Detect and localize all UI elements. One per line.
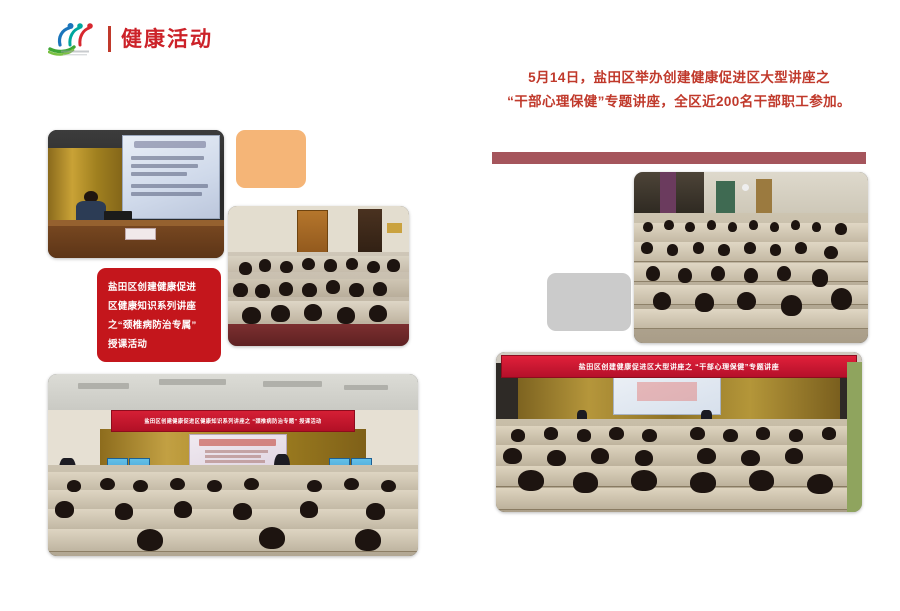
- audience-head: [381, 480, 396, 493]
- right-column-heading: 5月14日，盐田区举办创建健康促进区大型讲座之 “干部心理保健”专题讲座，全区近…: [488, 66, 870, 114]
- wooden-door: [756, 179, 772, 215]
- audience-head: [646, 266, 660, 281]
- audience-head: [280, 261, 293, 274]
- audience-head: [777, 266, 791, 281]
- photo-scene: 盐田区创建健康促进区健康知识系列讲座之 “颈椎病防治专题” 授课活动: [48, 374, 418, 556]
- audience-head: [100, 478, 115, 491]
- ceiling: [48, 374, 418, 414]
- vertical-divider-icon: [108, 26, 111, 52]
- ceiling-light: [78, 383, 130, 388]
- audience-head: [244, 478, 259, 491]
- audience-head: [653, 292, 672, 311]
- audience-head: [744, 242, 756, 254]
- page-header: 健康活动: [48, 18, 213, 60]
- page-root: 健康活动 5月14日，盐田区举办创建健康促进区大型讲座之 “干部心理保健”专题讲…: [0, 0, 900, 611]
- photo-dense-audience-right: [634, 172, 868, 343]
- stage-banner-text: 盐田区创建健康促进区大型讲座之 “干部心理保健”专题讲座: [579, 362, 780, 372]
- photo-scene: [634, 172, 868, 343]
- audience-head: [115, 503, 134, 519]
- audience-head: [279, 282, 293, 296]
- ceiling-light: [344, 385, 388, 390]
- audience-head: [685, 222, 694, 232]
- photo-speaker-presentation: [48, 130, 224, 258]
- audience-head: [233, 503, 252, 519]
- audience-head: [373, 282, 387, 296]
- audience-head: [795, 242, 807, 254]
- audience-head: [302, 283, 316, 297]
- audience-head: [641, 242, 653, 254]
- audience-head: [678, 268, 692, 283]
- stage-banner-text: 盐田区创建健康促进区健康知识系列讲座之 “颈椎病防治专题” 授课活动: [144, 418, 321, 425]
- audience-head: [387, 259, 400, 272]
- audience-head: [831, 288, 852, 310]
- audience-head: [642, 429, 657, 442]
- exit-door: [716, 181, 735, 215]
- audience-head: [137, 529, 163, 551]
- audience-head: [207, 480, 222, 493]
- health-literacy-logo-icon: [48, 19, 102, 59]
- ceiling-light: [263, 381, 322, 386]
- audience-head: [55, 501, 74, 517]
- audience-head: [643, 222, 652, 232]
- seat-row: [634, 309, 868, 329]
- audience-head: [749, 220, 758, 230]
- audience-head: [824, 246, 838, 260]
- gray-decorative-block: [547, 273, 631, 331]
- ceiling-light: [159, 379, 226, 384]
- audience-head: [271, 305, 289, 322]
- audience-head: [785, 448, 803, 464]
- slide-text-line: [205, 460, 265, 463]
- audience-head: [259, 527, 285, 549]
- audience-head: [781, 295, 802, 316]
- audience-head: [667, 244, 679, 256]
- audience-head: [791, 220, 800, 230]
- audience-head: [518, 470, 544, 491]
- caption-line: 区健康知识系列讲座: [108, 297, 210, 316]
- audience-head: [728, 222, 737, 232]
- slide-text-line: [131, 156, 204, 160]
- audience-head: [233, 283, 247, 297]
- caption-line: 之“颈椎病防治专属”: [108, 316, 210, 335]
- slide-text-line: [205, 455, 261, 458]
- stage-banner: 盐田区创建健康促进区大型讲座之 “干部心理保健”专题讲座: [501, 355, 856, 378]
- audience-head: [573, 472, 599, 493]
- orange-decorative-block: [236, 130, 306, 188]
- audience-head: [812, 269, 828, 286]
- red-horizontal-rule: [492, 152, 866, 164]
- audience-head: [631, 470, 657, 491]
- photo-lecture-hall-cadre: 盐田区创建健康促进区大型讲座之 “干部心理保健”专题讲座: [496, 352, 862, 512]
- seat-row: [496, 488, 862, 510]
- audience-head: [789, 429, 804, 442]
- audience-head: [770, 222, 779, 232]
- red-caption-card: 盐田区创建健康促进 区健康知识系列讲座 之“颈椎病防治专属” 授课活动: [97, 268, 221, 362]
- audience-head: [346, 258, 359, 271]
- page-title: 健康活动: [121, 29, 213, 50]
- caption-text: 盐田区创建健康促进 区健康知识系列讲座 之“颈椎病防治专属” 授课活动: [108, 278, 210, 354]
- audience-head: [749, 470, 775, 491]
- audience-head: [503, 448, 521, 464]
- audience-head: [242, 307, 260, 324]
- audience-head: [547, 450, 565, 466]
- desk-edge: [48, 220, 224, 226]
- audience-head: [170, 478, 185, 491]
- heading-line-2: “干部心理保健”专题讲座，全区近200名干部职工参加。: [488, 90, 870, 114]
- audience-head: [707, 220, 716, 230]
- audience-head: [756, 427, 771, 440]
- audience-head: [609, 427, 624, 440]
- slide-text-line: [205, 450, 268, 453]
- audience-head: [324, 259, 337, 272]
- audience-head: [326, 280, 340, 294]
- seat-row: [228, 324, 409, 346]
- audience-head: [741, 450, 759, 466]
- photo-lecture-hall-wide: 盐田区创建健康促进区健康知识系列讲座之 “颈椎病防治专题” 授课活动: [48, 374, 418, 556]
- audience-head: [591, 448, 609, 464]
- audience-head: [259, 259, 272, 272]
- audience-head: [511, 429, 526, 442]
- audience-head: [133, 480, 148, 493]
- photo-scene: [48, 130, 224, 258]
- wall-sign: [387, 223, 401, 233]
- audience-head: [366, 503, 385, 519]
- audience-head: [835, 223, 847, 235]
- photo-scene: [228, 206, 409, 346]
- audience-head: [369, 305, 387, 322]
- slide-text-line: [131, 184, 208, 188]
- audience-head: [355, 529, 381, 551]
- audience-head: [770, 244, 782, 256]
- audience-head: [807, 474, 833, 495]
- audience-head: [304, 304, 322, 321]
- seat-row: [228, 256, 409, 271]
- audience-head: [307, 480, 322, 493]
- slide-text-line: [131, 164, 199, 168]
- audience-head: [367, 261, 380, 274]
- audience-head: [690, 427, 705, 440]
- audience-head: [174, 501, 193, 517]
- slide-title-bar: [134, 141, 205, 148]
- caption-line: 盐田区创建健康促进: [108, 278, 210, 297]
- photo-seated-audience-left: [228, 206, 409, 346]
- wall-clock-icon: [742, 184, 749, 191]
- audience-head: [695, 293, 714, 312]
- audience-head: [664, 220, 673, 230]
- audience-head: [239, 262, 252, 275]
- stage-banner: 盐田区创建健康促进区健康知识系列讲座之 “颈椎病防治专题” 授课活动: [111, 410, 355, 432]
- audience-head: [690, 472, 716, 493]
- audience-head: [635, 450, 653, 466]
- audience-head: [544, 427, 559, 440]
- audience-head: [697, 448, 715, 464]
- audience-head: [822, 427, 837, 440]
- slide-title-bar: [199, 439, 276, 445]
- audience-head: [723, 429, 738, 442]
- stage-curtain: [660, 172, 676, 213]
- audience-head: [300, 501, 319, 517]
- slide-text-line: [131, 172, 187, 176]
- caption-line: 授课活动: [108, 335, 210, 354]
- photo-scene: 盐田区创建健康促进区大型讲座之 “干部心理保健”专题讲座: [496, 352, 862, 512]
- slide-content-block: [637, 382, 696, 401]
- audience-head: [812, 222, 821, 232]
- audience-head: [744, 268, 758, 283]
- name-plate: [125, 228, 155, 240]
- audience-head: [349, 283, 363, 297]
- audience-head: [67, 480, 82, 493]
- projection-screen: [122, 135, 221, 219]
- audience-head: [737, 292, 756, 311]
- heading-line-1: 5月14日，盐田区举办创建健康促进区大型讲座之: [488, 66, 870, 90]
- audience-head: [255, 284, 269, 298]
- audience-head: [302, 258, 315, 271]
- side-wall-panel: [847, 362, 862, 512]
- audience-head: [344, 478, 359, 491]
- audience-head: [718, 244, 730, 256]
- audience-head: [577, 429, 592, 442]
- audience-head: [693, 242, 705, 254]
- audience-head: [337, 307, 355, 324]
- slide-text-line: [131, 192, 202, 196]
